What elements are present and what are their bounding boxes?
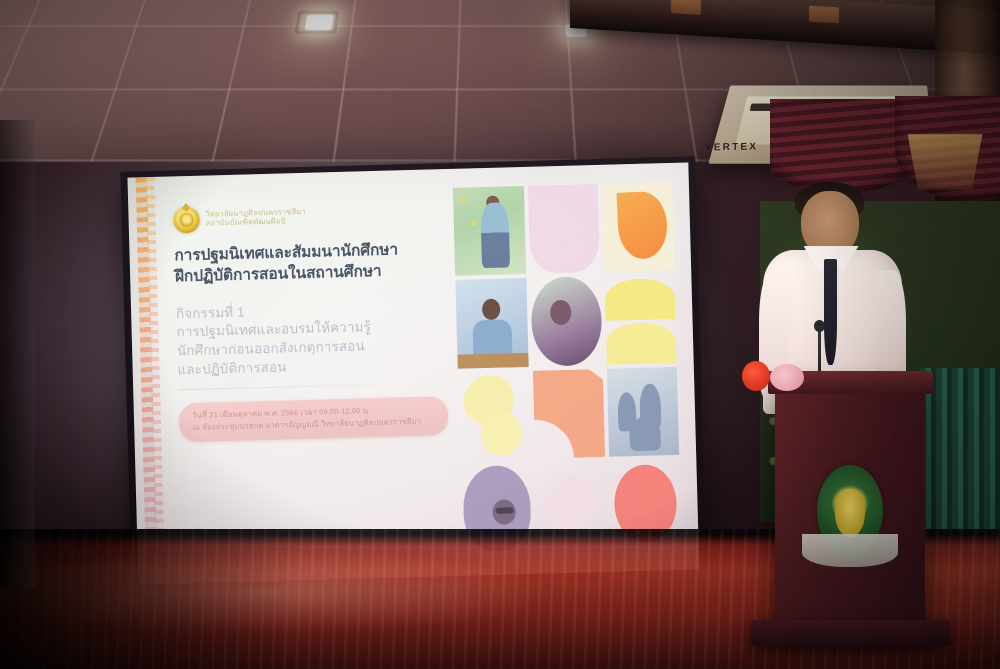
screen-brand-label-top: VERTEX xyxy=(705,142,758,154)
organization-name: วิทยาลัยนาฏศิลปนครราชสีมา สถาบันบัณฑิตพั… xyxy=(205,208,306,228)
shape-blob-yellow xyxy=(458,370,531,460)
presentation-slide: วิทยาลัยนาฏศิลปนครราชสีมา สถาบันบัณฑิตพั… xyxy=(127,162,699,584)
podium-flower-arrangement xyxy=(742,356,808,397)
slide-divider xyxy=(178,382,437,390)
slide-organization-header: วิทยาลัยนาฏศิลปนครราชสีมา สถาบันบัณฑิตพั… xyxy=(173,200,443,233)
left-wall-column xyxy=(0,120,35,588)
speaker-podium xyxy=(775,381,925,635)
slide-title: การปฐมนิเทศและสัมมนานักศึกษา ฝึกปฏิบัติก… xyxy=(174,239,444,287)
shape-drop-orange xyxy=(602,182,675,272)
institute-seal-icon xyxy=(173,206,200,233)
photo-circle-student xyxy=(530,276,603,366)
shape-half-dome-yellow xyxy=(604,274,677,364)
floor-shadow xyxy=(0,529,300,669)
auditorium-scene: วิทยาลัยนาฏศิลปนครราชสีมา สถาบันบัณฑิตพั… xyxy=(0,0,1000,669)
speaker-necktie xyxy=(824,259,837,365)
pink-carnation-icon xyxy=(770,364,804,391)
slide-text-column: วิทยาลัยนาฏศิลปนครราชสีมา สถาบันบัณฑิตพั… xyxy=(127,169,463,584)
shape-pill-pink xyxy=(527,184,600,274)
slide-date-banner: วันที่ 31 เดือนตุลาคม พ.ศ. 2566 เวลา 09.… xyxy=(178,396,448,442)
gold-tassel-drape xyxy=(908,134,983,190)
slide-subtitle: กิจกรรมที่ 1 การปฐมนิเทศและอบรมให้ความรู… xyxy=(176,298,447,380)
photo-student-at-desk xyxy=(456,278,529,368)
crest-ribbon-banner xyxy=(802,534,898,567)
podium-base xyxy=(751,620,949,645)
photo-group-activity xyxy=(607,366,680,456)
photo-teacher-at-board xyxy=(453,186,526,276)
shape-arc-coral xyxy=(532,368,605,458)
red-rose-icon xyxy=(742,361,770,391)
org-line-2: สถาบันบัณฑิตพัฒนศิลป์ xyxy=(205,217,306,229)
slide-collage-grid xyxy=(453,162,700,575)
